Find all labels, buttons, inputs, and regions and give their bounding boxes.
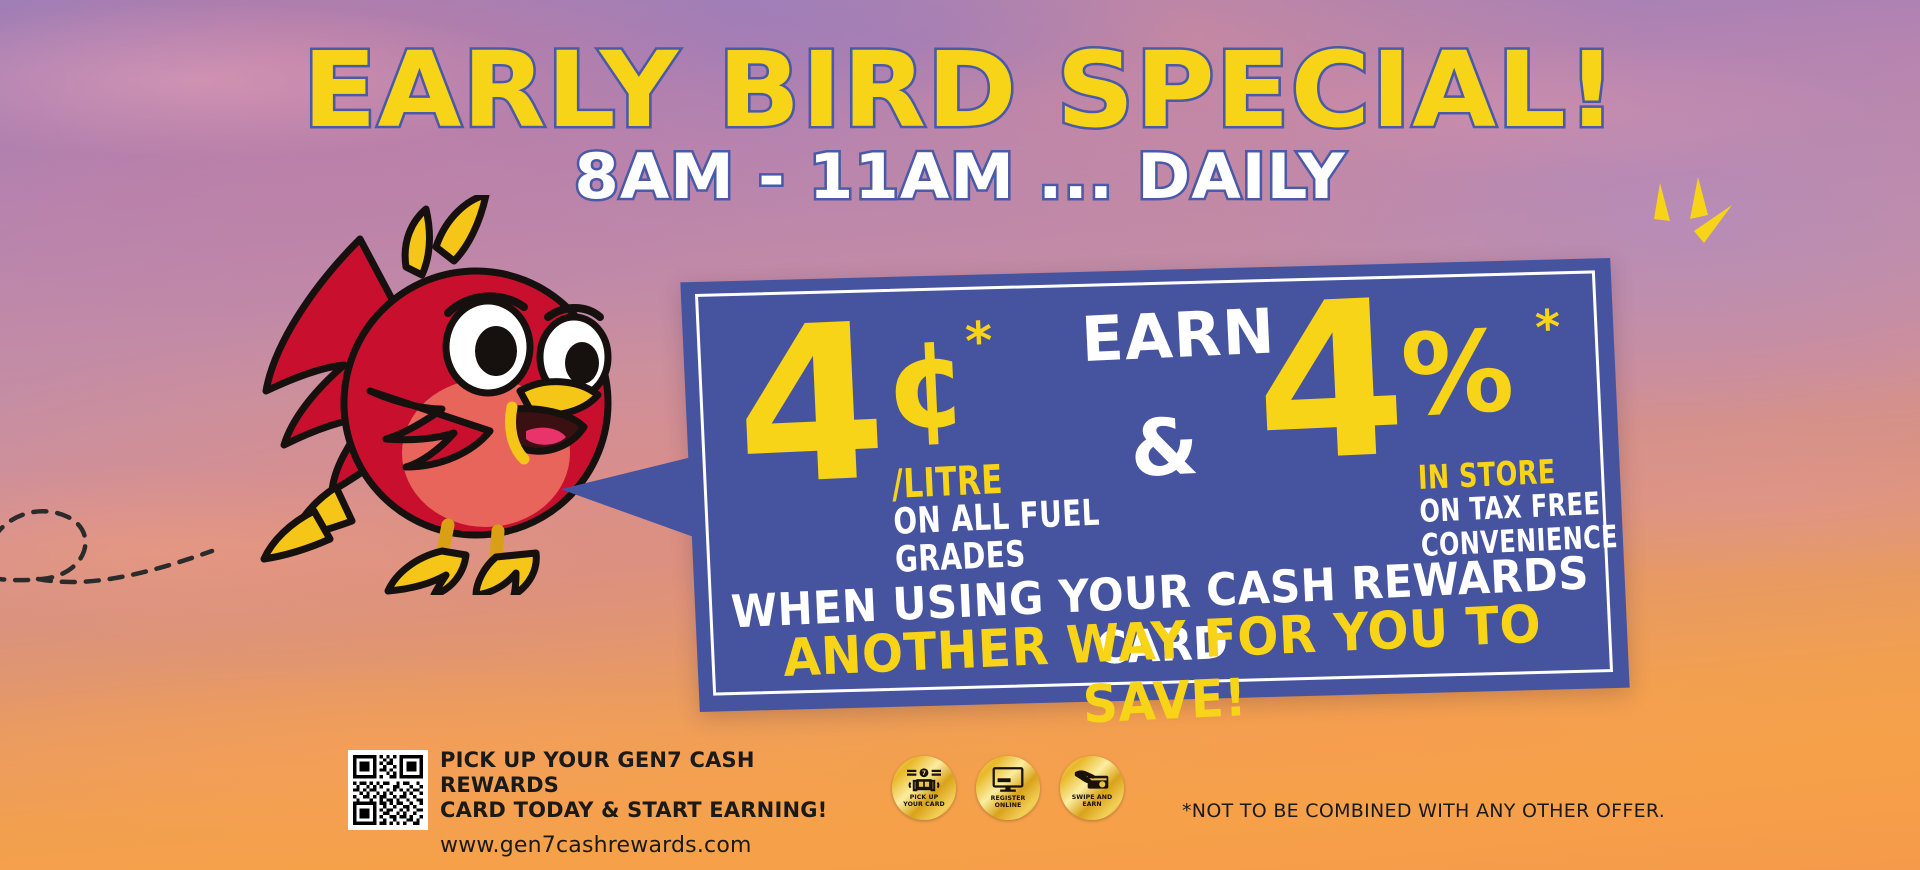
- page-title: EARLY BIRD SPECIAL!: [0, 38, 1920, 142]
- qr-code-image: [353, 755, 423, 825]
- badge-label: SWIPE AND EARN: [1072, 794, 1113, 809]
- badge-row: 7 PICK UP YOUR CARD REGISTER ONLINE: [892, 756, 1124, 820]
- cta-text-block: PICK UP YOUR GEN7 CASH REWARDS CARD TODA…: [440, 748, 860, 858]
- cta-line-1: PICK UP YOUR GEN7 CASH REWARDS: [440, 748, 860, 798]
- fuel-offer: 4 ¢ * /LITRE ON ALL FUEL GRADES: [732, 310, 890, 501]
- badge-pick-up-your-card[interactable]: 7 PICK UP YOUR CARD: [892, 756, 956, 820]
- hand-card-icon: [1074, 768, 1110, 792]
- badge-register-online[interactable]: REGISTER ONLINE: [976, 756, 1040, 820]
- fuel-asterisk: *: [964, 311, 994, 372]
- ampersand-label: &: [1129, 408, 1200, 489]
- store-offer: 4 % * IN STORE ON TAX FREE CONVENIENCE: [1251, 287, 1409, 478]
- cta-line-2: CARD TODAY & START EARNING!: [440, 798, 860, 823]
- sparkle-icon: [1620, 175, 1740, 285]
- store-amount: 4: [1251, 287, 1409, 478]
- monitor-icon: [992, 767, 1024, 793]
- disclaimer-text: *NOT TO BE COMBINED WITH ANY OTHER OFFER…: [1182, 800, 1665, 822]
- qr-code[interactable]: [348, 750, 428, 830]
- badge-label: PICK UP YOUR CARD: [903, 794, 945, 809]
- badge-label: REGISTER ONLINE: [991, 795, 1026, 810]
- earn-label: EARN: [1080, 300, 1277, 371]
- fuel-pump-icon: 7: [907, 768, 941, 792]
- website-url[interactable]: www.gen7cashrewards.com: [440, 833, 860, 858]
- fuel-amount: 4: [732, 310, 890, 501]
- badge-swipe-and-earn[interactable]: SWIPE AND EARN: [1060, 756, 1124, 820]
- store-asterisk: *: [1534, 299, 1562, 356]
- store-unit: %: [1399, 316, 1516, 433]
- promo-banner: EARLY BIRD SPECIAL! 8AM - 11AM ... DAILY: [0, 0, 1920, 870]
- svg-text:7: 7: [922, 770, 926, 777]
- offer-panel: 4 ¢ * /LITRE ON ALL FUEL GRADES EARN & 4…: [690, 270, 1620, 700]
- fuel-unit: ¢: [883, 324, 972, 448]
- flight-trail-icon: [0, 455, 260, 595]
